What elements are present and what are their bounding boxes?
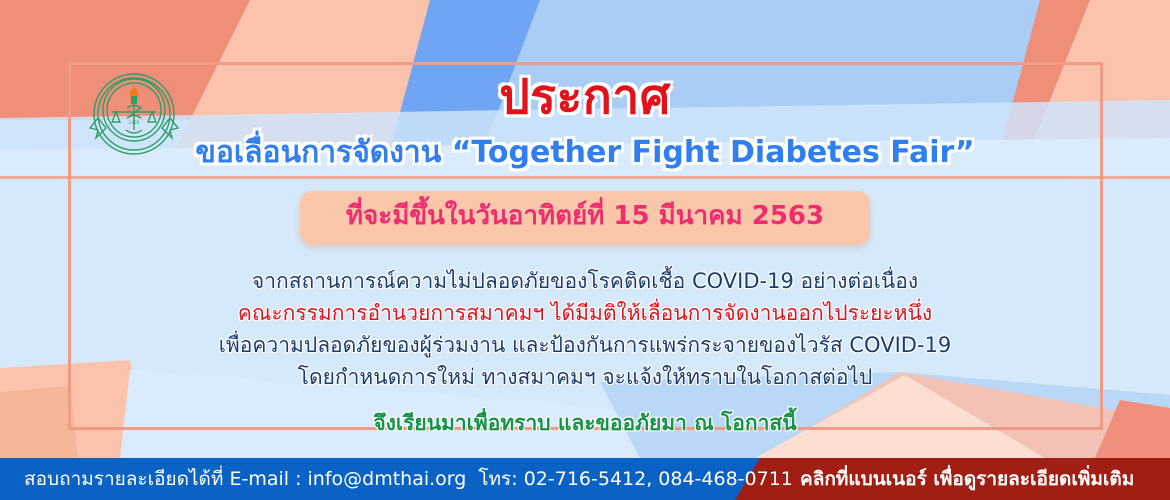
footer-email-label: สอบถามรายละเอียดได้ที่ E-mail : info@dmt…	[24, 464, 466, 494]
footer-cta-label: คลิกที่แบนเนอร์ เพื่อดูรายละเอียดเพิ่มเต…	[800, 464, 1134, 494]
page-title: ประกาศ	[0, 72, 1170, 122]
footer-bar: สอบถามรายละเอียดได้ที่ E-mail : info@dmt…	[0, 458, 1170, 500]
date-notice-wrapper: ที่จะมีขึ้นในวันอาทิตย์ที่ 15 มีนาคม 256…	[0, 191, 1170, 245]
footer-phone-label: โทร: 02-716-5412, 084-468-0711	[478, 464, 793, 494]
body-line-1: จากสถานการณ์ความไม่ปลอดภัยของโรคติดเชื้อ…	[0, 266, 1170, 298]
date-notice-badge: ที่จะมีขึ้นในวันอาทิตย์ที่ 15 มีนาคม 256…	[300, 191, 870, 245]
footer-cta[interactable]: คลิกที่แบนเนอร์ เพื่อดูรายละเอียดเพิ่มเต…	[800, 458, 1134, 500]
event-subtitle: ขอเลื่อนการจัดงาน “Together Fight Diabet…	[0, 136, 1170, 169]
body-line-4: โดยกำหนดการใหม่ ทางสมาคมฯ จะแจ้งให้ทราบใ…	[0, 362, 1170, 394]
announcement-banner[interactable]: 1965 ประกาศ ขอเลื่อนการจัดงาน “Together …	[0, 0, 1170, 500]
announcement-content: ประกาศ ขอเลื่อนการจัดงาน “Together Fight…	[0, 0, 1170, 440]
footer-contact[interactable]: สอบถามรายละเอียดได้ที่ E-mail : info@dmt…	[24, 458, 793, 500]
body-line-2: คณะกรรมการอำนวยการสมาคมฯ ได้มีมติให้เลื่…	[0, 298, 1170, 330]
body-line-3: เพื่อความปลอดภัยของผู้ร่วมงาน และป้องกัน…	[0, 330, 1170, 362]
announcement-body: จากสถานการณ์ความไม่ปลอดภัยของโรคติดเชื้อ…	[0, 266, 1170, 440]
body-line-5: จึงเรียนมาเพื่อทราบ และขออภัยมา ณ โอกาสน…	[0, 408, 1170, 440]
